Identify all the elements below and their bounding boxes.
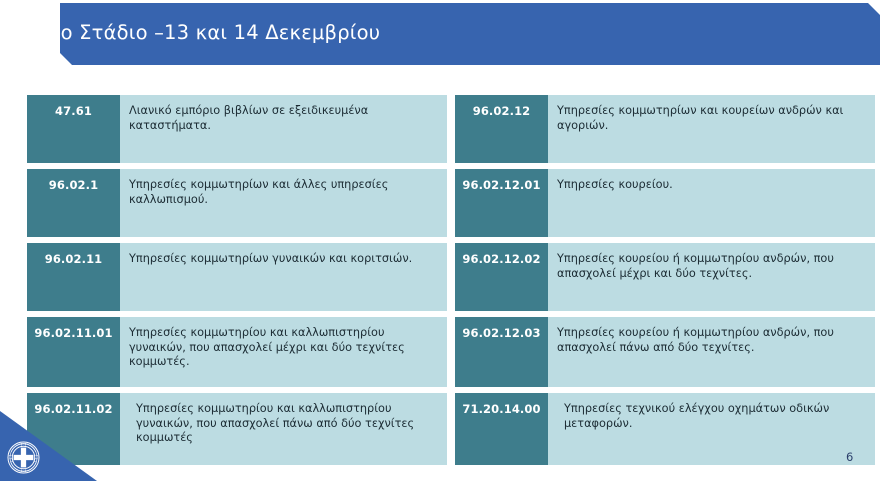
row-code: 96.02.12.01 xyxy=(455,169,548,237)
table-row: 96.02.11.02 Υπηρεσίες κομμωτηρίου και κα… xyxy=(27,393,447,465)
table-row: 96.02.1 Υπηρεσίες κομμωτηρίων και άλλες … xyxy=(27,169,447,237)
slide: 2ο Στάδιο –13 και 14 Δεκεμβρίου 47.61 Λι… xyxy=(0,0,880,481)
row-description: Λιανικό εμπόριο βιβλίων σε εξειδικευμένα… xyxy=(120,95,447,163)
row-description: Υπηρεσίες κουρείου ή κομμωτηρίου ανδρών,… xyxy=(548,243,875,311)
table-column-left: 47.61 Λιανικό εμπόριο βιβλίων σε εξειδικ… xyxy=(27,95,447,471)
row-description: Υπηρεσίες κομμωτηρίου και καλλωπιστηρίου… xyxy=(120,393,447,465)
page-number: 6 xyxy=(846,450,853,464)
page-title: 2ο Στάδιο –13 και 14 Δεκεμβρίου xyxy=(48,21,380,44)
row-description: Υπηρεσίες κουρείου. xyxy=(548,169,875,237)
row-code: 96.02.1 xyxy=(27,169,120,237)
table-row: 71.20.14.00 Υπηρεσίες τεχνικού ελέγχου ο… xyxy=(455,393,875,465)
greek-coat-of-arms-icon xyxy=(7,441,40,474)
row-code: 96.02.11.01 xyxy=(27,317,120,387)
row-code: 96.02.12.03 xyxy=(455,317,548,387)
row-code: 96.02.11 xyxy=(27,243,120,311)
row-code: 96.02.12.02 xyxy=(455,243,548,311)
table-row: 96.02.12.03 Υπηρεσίες κουρείου ή κομμωτη… xyxy=(455,317,875,387)
table-row: 96.02.12.02 Υπηρεσίες κουρείου ή κομμωτη… xyxy=(455,243,875,311)
table-row: 96.02.12.01 Υπηρεσίες κουρείου. xyxy=(455,169,875,237)
row-description: Υπηρεσίες κουρείου ή κομμωτηρίου ανδρών,… xyxy=(548,317,875,387)
table-column-right: 96.02.12 Υπηρεσίες κομμωτηρίων και κουρε… xyxy=(455,95,875,471)
row-description: Υπηρεσίες κομμωτηρίου και καλλωπιστηρίου… xyxy=(120,317,447,387)
table-row: 47.61 Λιανικό εμπόριο βιβλίων σε εξειδικ… xyxy=(27,95,447,163)
row-description: Υπηρεσίες κομμωτηρίων και κουρείων ανδρώ… xyxy=(548,95,875,163)
row-code: 71.20.14.00 xyxy=(455,393,548,465)
row-description: Υπηρεσίες κομμωτηρίων και άλλες υπηρεσίε… xyxy=(120,169,447,237)
row-code: 47.61 xyxy=(27,95,120,163)
row-code: 96.02.12 xyxy=(455,95,548,163)
code-table: 47.61 Λιανικό εμπόριο βιβλίων σε εξειδικ… xyxy=(0,95,880,447)
row-description: Υπηρεσίες κομμωτηρίων γυναικών και κοριτ… xyxy=(120,243,447,311)
table-row: 96.02.12 Υπηρεσίες κομμωτηρίων και κουρε… xyxy=(455,95,875,163)
row-description: Υπηρεσίες τεχνικού ελέγχου οχημάτων οδικ… xyxy=(548,393,875,465)
table-row: 96.02.11 Υπηρεσίες κομμωτηρίων γυναικών … xyxy=(27,243,447,311)
table-row: 96.02.11.01 Υπηρεσίες κομμωτηρίου και κα… xyxy=(27,317,447,387)
